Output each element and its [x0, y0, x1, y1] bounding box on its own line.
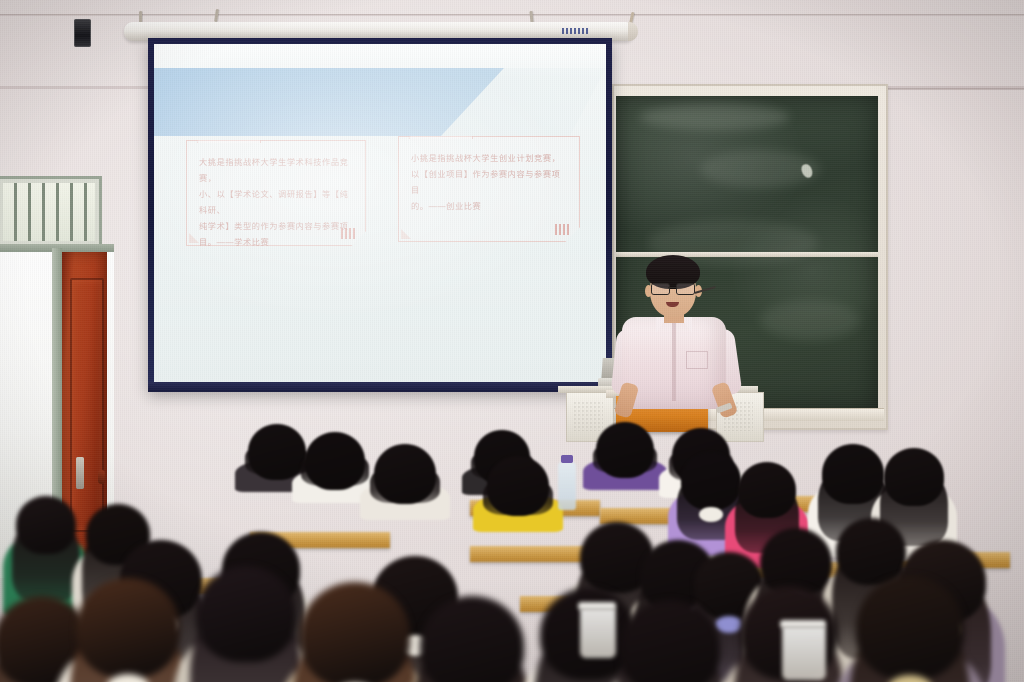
audience-member-head	[738, 462, 796, 518]
audience-member-head	[596, 422, 654, 478]
slide-card-mark	[555, 224, 571, 235]
audience-member-head	[884, 448, 944, 506]
slide-card-line: 目。——学术比赛	[199, 235, 355, 251]
audience-member	[856, 576, 964, 682]
audience-member	[305, 432, 365, 528]
classroom-photo: 大挑 大挑是指挑战杯大学生学术科技作品竞赛， 小、以【学术论文、调研报告】等【纯…	[0, 0, 1024, 682]
glasses-lens-right	[676, 283, 695, 295]
slide-card-line: 小、以【学术论文、调研报告】等【纯科研、	[199, 187, 355, 219]
chalk-smudge	[640, 104, 790, 130]
presenter	[612, 255, 742, 415]
slide-card-line: 纯学术】类型的作为参赛内容与参赛项	[199, 219, 355, 235]
audience-member-head	[16, 496, 76, 554]
slide-card-corner	[189, 233, 199, 243]
presenter-shirt-pocket	[686, 351, 708, 369]
audience-member-head	[856, 576, 964, 680]
transom-bars	[3, 183, 95, 241]
audience-member-head	[620, 600, 720, 682]
audience-member-head	[681, 452, 741, 510]
audience-member-head	[487, 456, 549, 516]
audience-member-head	[196, 566, 296, 662]
glasses-bridge	[668, 287, 676, 288]
audience	[0, 400, 1024, 682]
water-bottle	[558, 462, 576, 510]
cup-lid	[780, 620, 826, 628]
audience-member-head	[248, 424, 306, 480]
projection-screen[interactable]: 大挑 大挑是指挑战杯大学生学术科技作品竞赛， 小、以【学术论文、调研报告】等【纯…	[148, 38, 612, 390]
drink-cup	[782, 626, 826, 680]
presenter-shirt-placket	[672, 321, 676, 401]
glasses-lens-left	[651, 283, 670, 295]
audience-member-head	[374, 444, 436, 504]
slide-card-corner	[401, 229, 411, 239]
audience-member	[196, 566, 296, 682]
ceiling-wire	[0, 14, 1024, 15]
audience-member-head	[822, 444, 884, 504]
audience-member	[596, 422, 654, 514]
audience-member	[374, 444, 436, 546]
projection-screen-bottom-bar	[148, 382, 612, 392]
audience-member	[620, 600, 720, 682]
glasses-icon	[651, 283, 696, 293]
slide-card-entrepreneur: 小挑 小挑是指挑战杯大学生创业计划竞赛， 以【创业项目】作为参赛内容与参赛项目 …	[398, 136, 580, 242]
audience-member-head	[300, 582, 410, 682]
audience-member-head	[76, 578, 180, 678]
audience-member-head	[305, 432, 365, 490]
slide-card-line: 大挑是指挑战杯大学生学术科技作品竞赛，	[199, 155, 355, 187]
slide-card-line: 的。——创业比赛	[411, 199, 569, 215]
slide-card-academic: 大挑 大挑是指挑战杯大学生学术科技作品竞赛， 小、以【学术论文、调研报告】等【纯…	[186, 140, 366, 246]
roller-brand-label	[562, 28, 588, 34]
audience-member	[300, 582, 410, 682]
cup-lid	[578, 602, 616, 610]
slide-card-line: 以【创业项目】作为参赛内容与参赛项目	[411, 167, 569, 199]
slide-card-mark	[341, 228, 357, 239]
projection-surface: 大挑 大挑是指挑战杯大学生学术科技作品竞赛， 小、以【学术论文、调研报告】等【纯…	[154, 44, 606, 384]
slide-card-line: 小挑是指挑战杯大学生创业计划竞赛，	[411, 151, 569, 167]
drink-cup	[580, 608, 616, 658]
wall-switch-icon[interactable]	[74, 19, 91, 47]
slide-card-body: 小挑是指挑战杯大学生创业计划竞赛， 以【创业项目】作为参赛内容与参赛项目 的。—…	[411, 151, 569, 215]
transom-window	[0, 176, 102, 248]
audience-member	[420, 596, 524, 682]
bottle-cap	[561, 455, 573, 463]
audience-member	[487, 456, 549, 558]
slide-card-body: 大挑是指挑战杯大学生学术科技作品竞赛， 小、以【学术论文、调研报告】等【纯科研、…	[199, 155, 355, 251]
audience-member	[76, 578, 180, 682]
wall-seam-right	[880, 88, 1024, 90]
chalk-smudge	[760, 300, 860, 340]
audience-member-head	[420, 596, 524, 682]
hair-tie	[699, 507, 723, 521]
